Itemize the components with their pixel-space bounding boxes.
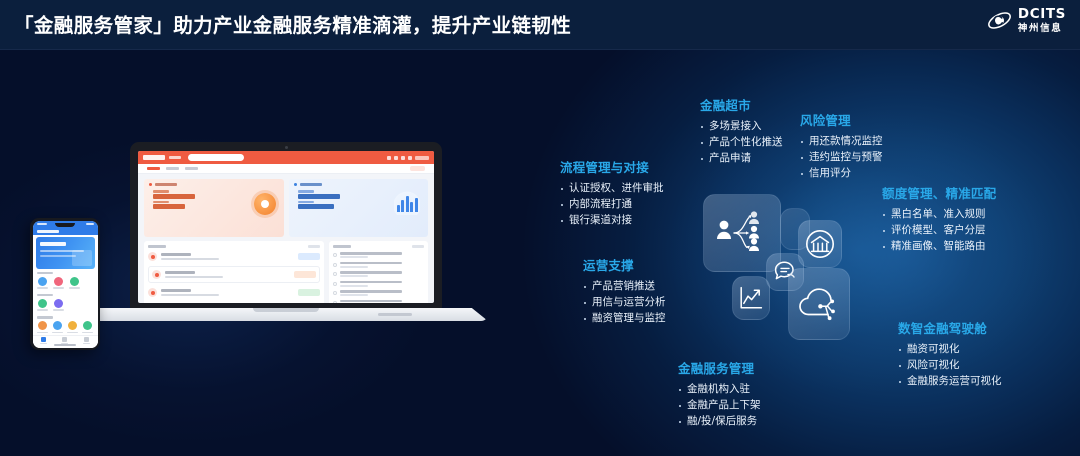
section-title	[37, 272, 53, 275]
card-title	[149, 183, 279, 186]
app-icon-cell[interactable]	[37, 299, 49, 311]
card-value-2	[298, 204, 334, 209]
list-item: 产品营销推送	[583, 279, 666, 295]
step-node-icon	[152, 270, 161, 279]
list-item[interactable]	[148, 266, 320, 283]
block-heading: 运营支撑	[583, 255, 666, 274]
panel-title	[148, 245, 166, 248]
list-item[interactable]	[333, 262, 424, 268]
banner-illustration	[72, 250, 92, 266]
blue-kpi-card	[289, 179, 429, 237]
list-item: 融/投/保后服务	[678, 414, 761, 430]
phone-section-2	[33, 291, 98, 311]
app-icon-cell[interactable]	[53, 299, 65, 311]
dashboard-lists	[144, 241, 428, 303]
kpi-card-row	[144, 179, 428, 237]
icon-grid-row	[37, 321, 94, 333]
list-item: 产品个性化推送	[700, 135, 783, 151]
list-item: 产品申请	[700, 151, 783, 167]
tab-second[interactable]	[166, 167, 179, 170]
block-list: 融资可视化 风险可视化 金融服务运营可视化	[898, 342, 1002, 390]
app-icon-label	[82, 332, 93, 334]
phone-body	[30, 218, 100, 350]
bar-chart-icon	[394, 191, 420, 215]
panel-more-link[interactable]	[308, 245, 320, 248]
list-item[interactable]	[333, 290, 424, 296]
app-icon-label	[52, 332, 63, 334]
app-icon	[68, 321, 77, 330]
app-icon	[54, 277, 63, 286]
card-value-2	[153, 204, 185, 209]
card-sublabel	[298, 190, 314, 193]
laptop-base-foot	[378, 313, 412, 316]
phone-screen	[33, 221, 98, 348]
card-sublabel-2	[153, 201, 169, 204]
step-node-icon	[148, 252, 157, 261]
panel-header	[148, 245, 320, 248]
phone-nav-bar	[33, 228, 98, 235]
list-tab[interactable]	[60, 337, 69, 345]
block-list: 多场景接入 产品个性化推送 产品申请	[700, 119, 783, 167]
logo-cn: 神州信息	[1018, 24, 1066, 34]
icon-grid-row	[37, 277, 94, 289]
card-label	[300, 183, 322, 186]
block-heading: 金融服务管理	[678, 358, 761, 377]
list-item: 银行渠道对接	[560, 213, 664, 229]
section-title	[37, 316, 53, 319]
app-icon-label	[53, 287, 64, 289]
app-icon-cell[interactable]	[69, 277, 81, 289]
list-item-text	[161, 253, 294, 261]
list-item: 内部流程打通	[560, 197, 664, 213]
step-node-icon	[148, 288, 157, 297]
slide-root: 「金融服务管家」助力产业金融服务精准滴灌，提升产业链韧性 DCITS 神州信息	[0, 0, 1080, 456]
dashboard-header-actions	[387, 156, 429, 160]
card-sublabel	[153, 190, 169, 193]
tab-third[interactable]	[185, 167, 198, 170]
card-dot-icon	[149, 183, 152, 186]
bank-coin-icon	[804, 228, 836, 260]
list-item: 违约监控与预警	[800, 150, 883, 166]
list-item: 多场景接入	[700, 119, 783, 135]
list-item[interactable]	[333, 300, 424, 304]
cloud-network-tile	[788, 268, 850, 340]
people-network-icon	[713, 207, 771, 259]
text-block-finance-supermarket: 金融超市 多场景接入 产品个性化推送 产品申请	[700, 95, 783, 167]
bank-coin-tile	[798, 220, 842, 268]
card-sublabel-2	[298, 201, 314, 204]
app-icon-label	[37, 287, 48, 289]
bullet-icon	[333, 263, 337, 267]
text-block-flow-management: 流程管理与对接 认证授权、进件审批 内部流程打通 银行渠道对接	[560, 157, 664, 229]
bullet-icon	[333, 253, 337, 257]
section-title	[37, 294, 53, 297]
banner-title	[40, 242, 66, 246]
orange-kpi-card	[144, 179, 284, 237]
cloud-network-icon	[797, 284, 841, 324]
dashboard-header	[138, 151, 434, 164]
app-icon	[38, 277, 47, 286]
message-icon[interactable]	[394, 156, 398, 160]
profile-tab[interactable]	[82, 337, 91, 345]
card-title	[294, 183, 424, 186]
brand-logo: DCITS 神州信息	[986, 7, 1066, 34]
card-dot-icon	[294, 183, 297, 186]
list-item: 信用评分	[800, 166, 883, 182]
icon-grid-row	[37, 299, 94, 311]
app-icon	[83, 321, 92, 330]
text-block-operation-support: 运营支撑 产品营销推送 用信与运营分析 融资管理与监控	[583, 255, 666, 327]
phone-section-3	[33, 313, 98, 333]
block-list: 金融机构入驻 金融产品上下架 融/投/保后服务	[678, 382, 761, 430]
app-icon-label	[37, 332, 48, 334]
block-heading: 风险管理	[800, 110, 883, 129]
block-heading: 数智金融驾驶舱	[898, 318, 1002, 337]
bell-icon[interactable]	[387, 156, 391, 160]
app-icon	[38, 299, 47, 308]
person-icon	[84, 337, 89, 342]
panel-header	[333, 245, 424, 248]
tab-label	[40, 343, 47, 345]
page-title: 「金融服务管家」助力产业金融服务精准滴灌，提升产业链韧性	[14, 9, 571, 38]
phone-section-1	[33, 269, 98, 289]
phone-app-mockup	[30, 218, 100, 350]
panel-more-link[interactable]	[412, 245, 424, 248]
logo-en: DCITS	[1018, 8, 1066, 22]
block-heading: 流程管理与对接	[560, 157, 664, 176]
block-list: 产品营销推送 用信与运营分析 融资管理与监控	[583, 279, 666, 327]
status-badge	[294, 271, 316, 278]
dashboard-logo	[143, 155, 165, 160]
bullet-icon	[333, 301, 337, 304]
text-block-financial-service-management: 金融服务管理 金融机构入驻 金融产品上下架 融/投/保后服务	[678, 358, 761, 430]
card-value	[153, 194, 195, 199]
process-list-panel	[144, 241, 324, 303]
user-avatar[interactable]	[415, 156, 429, 160]
status-badge	[298, 289, 320, 296]
list-item: 融资管理与监控	[583, 311, 666, 327]
laptop-dashboard-mockup	[130, 142, 442, 322]
app-icon	[54, 299, 63, 308]
bullet-icon	[333, 282, 337, 286]
home-icon	[41, 337, 46, 342]
dashboard-tabs	[138, 164, 434, 174]
app-icon-cell[interactable]	[53, 277, 65, 289]
tab-overview[interactable]	[147, 167, 160, 170]
swirl-icon	[986, 7, 1013, 34]
dashboard-action-button[interactable]	[410, 166, 425, 171]
bullet-icon	[333, 272, 337, 276]
bullet-icon	[333, 291, 337, 295]
list-item[interactable]	[333, 271, 424, 277]
list-item: 金融机构入驻	[678, 382, 761, 398]
app-icon-cell[interactable]	[52, 321, 63, 333]
block-heading: 额度管理、精准匹配	[882, 183, 996, 202]
card-label	[155, 183, 177, 186]
list-item-text	[161, 289, 294, 297]
status-time	[37, 223, 47, 225]
text-block-digital-finance-cockpit: 数智金融驾驶舱 融资可视化 风险可视化 金融服务运营可视化	[898, 318, 1002, 390]
status-icons	[86, 223, 94, 225]
gear-icon[interactable]	[408, 156, 412, 160]
app-icon-label	[69, 287, 80, 289]
phone-banner[interactable]	[36, 237, 95, 269]
phone-app-title	[37, 230, 59, 233]
list-icon	[62, 337, 67, 342]
help-icon[interactable]	[401, 156, 405, 160]
list-item: 融资可视化	[898, 342, 1002, 358]
list-item: 用还款情况监控	[800, 134, 883, 150]
list-item[interactable]	[333, 252, 424, 258]
dashboard-search-input[interactable]	[188, 154, 244, 161]
list-item[interactable]	[333, 281, 424, 287]
block-heading: 金融超市	[700, 95, 783, 114]
dashboard-nav-item[interactable]	[169, 156, 181, 160]
tab-label	[83, 343, 90, 345]
list-item: 黑白名单、准入规则	[882, 207, 996, 223]
app-icon-cell[interactable]	[82, 321, 93, 333]
laptop-screen	[138, 151, 434, 303]
phone-notch	[55, 223, 75, 227]
list-item: 评价模型、客户分层	[882, 223, 996, 239]
panel-title	[333, 245, 351, 248]
app-icon-label	[53, 309, 64, 311]
list-item[interactable]	[148, 252, 320, 261]
laptop-lid	[130, 142, 442, 310]
text-block-quota-management: 额度管理、精准匹配 黑白名单、准入规则 评价模型、客户分层 精准画像、智能路由	[882, 183, 996, 255]
webcam-icon	[285, 146, 288, 149]
icon-cluster	[700, 190, 875, 360]
home-indicator	[54, 344, 76, 346]
logo-text: DCITS 神州信息	[1018, 8, 1066, 33]
home-tab[interactable]	[39, 337, 48, 345]
app-icon-label	[67, 332, 78, 334]
card-value	[298, 194, 340, 199]
title-bar: 「金融服务管家」助力产业金融服务精准滴灌，提升产业链韧性 DCITS 神州信息	[0, 0, 1080, 50]
list-item[interactable]	[148, 288, 320, 297]
list-item: 风险可视化	[898, 358, 1002, 374]
list-item: 精准画像、智能路由	[882, 239, 996, 255]
list-item: 金融服务运营可视化	[898, 374, 1002, 390]
app-icon	[70, 277, 79, 286]
app-icon	[38, 321, 47, 330]
list-item: 用信与运营分析	[583, 295, 666, 311]
growth-chart-tile	[732, 276, 770, 320]
app-icon	[53, 321, 62, 330]
device-mockups	[30, 140, 460, 350]
status-badge	[298, 253, 320, 260]
block-list: 用还款情况监控 违约监控与预警 信用评分	[800, 134, 883, 182]
app-icon-cell[interactable]	[37, 321, 48, 333]
dashboard-body	[138, 174, 434, 296]
banner-line-2	[40, 255, 76, 257]
list-item-text	[165, 271, 290, 279]
block-list: 认证授权、进件审批 内部流程打通 银行渠道对接	[560, 181, 664, 229]
app-icon-label	[37, 309, 48, 311]
block-list: 黑白名单、准入规则 评价模型、客户分层 精准画像、智能路由	[882, 207, 996, 255]
target-icon	[254, 193, 276, 215]
text-block-risk-management: 风险管理 用还款情况监控 违约监控与预警 信用评分	[800, 110, 883, 182]
laptop-notch	[253, 308, 319, 312]
growth-chart-icon	[738, 285, 764, 311]
notice-list-panel	[329, 241, 428, 303]
app-icon-cell[interactable]	[37, 277, 49, 289]
list-item: 认证授权、进件审批	[560, 181, 664, 197]
app-icon-cell[interactable]	[67, 321, 78, 333]
list-item: 金融产品上下架	[678, 398, 761, 414]
